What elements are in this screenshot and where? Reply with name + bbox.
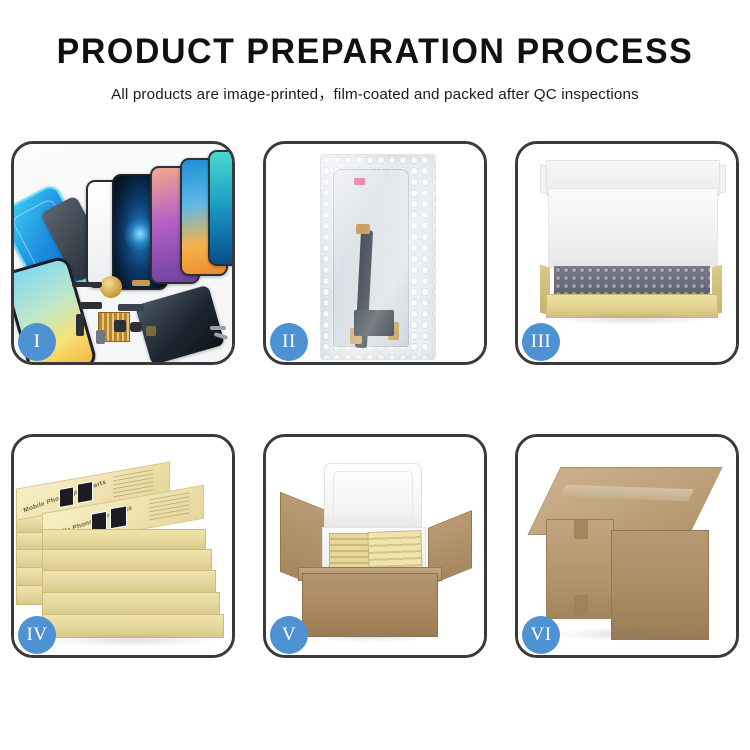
process-step-panel-5[interactable]: V (263, 434, 487, 658)
page-title: PRODUCT PREPARATION PROCESS (11, 34, 739, 69)
tweezers-icon (210, 326, 226, 330)
process-step-panel-2[interactable]: II (263, 141, 487, 365)
camera-module-icon (114, 320, 126, 332)
process-step-panel-1[interactable]: I (11, 141, 235, 365)
stacked-box-front-3 (42, 570, 216, 594)
carton-front-panel-icon (302, 573, 438, 637)
bubble-wrap-bag-icon (320, 154, 436, 360)
screw-set-icon (146, 326, 156, 336)
box-screen-thumb-1b (77, 481, 93, 504)
carton-shadow-overlay (304, 629, 436, 643)
lcd-screen-icon (333, 169, 409, 347)
vibration-motor-icon (100, 276, 122, 298)
flex-connector-icon (132, 280, 150, 286)
driver-ic-icon (354, 310, 394, 336)
process-step-panel-6[interactable]: VI (515, 434, 739, 658)
step-badge-2: II (270, 323, 308, 361)
process-step-grid: I II (11, 141, 739, 658)
side-button-flex-icon (76, 314, 84, 336)
carton-seam-top-icon (574, 519, 588, 539)
box-screen-thumb-1a (59, 486, 74, 508)
sim-tray-icon (96, 330, 105, 344)
small-flex-cable-icon (80, 302, 102, 309)
stack-shadow-overlay (44, 633, 220, 647)
stacked-box-front-1 (42, 529, 206, 551)
step-badge-6: VI (522, 616, 560, 654)
stacked-box-front-4 (42, 592, 220, 616)
sealed-carton-shadow-overlay (552, 627, 702, 641)
page-subtitle: All products are image-printed，film-coat… (0, 82, 750, 104)
foam-lid-icon (324, 463, 422, 531)
box-screen-thumb-2b (110, 505, 127, 529)
page-header: PRODUCT PREPARATION PROCESS All products… (0, 0, 750, 104)
box-spec-lines-2 (149, 492, 189, 521)
step-badge-4: IV (18, 616, 56, 654)
carton-seam-bottom-icon (574, 595, 588, 615)
carton-right-face-icon (611, 530, 709, 640)
gray-foam-padding-icon (554, 266, 710, 296)
box-shadow-overlay (554, 312, 710, 326)
process-step-panel-4[interactable]: Mobile Phone Spare Parts Mobile Phone Sp… (11, 434, 235, 658)
teal-phone-icon (208, 150, 232, 266)
box-lid-face-icon (548, 188, 718, 268)
antenna-flex-icon (118, 304, 144, 311)
earpiece-mesh-icon (72, 282, 102, 287)
step-badge-3: III (522, 323, 560, 361)
stacked-box-front-2 (42, 549, 212, 572)
step-badge-5: V (270, 616, 308, 654)
phone-mainboard-icon (135, 285, 225, 362)
speaker-icon (130, 322, 142, 332)
process-step-panel-3[interactable]: III (515, 141, 739, 365)
step-badge-1: I (18, 323, 56, 361)
pink-label-tab-icon (354, 178, 365, 185)
top-connector-icon (356, 224, 370, 234)
